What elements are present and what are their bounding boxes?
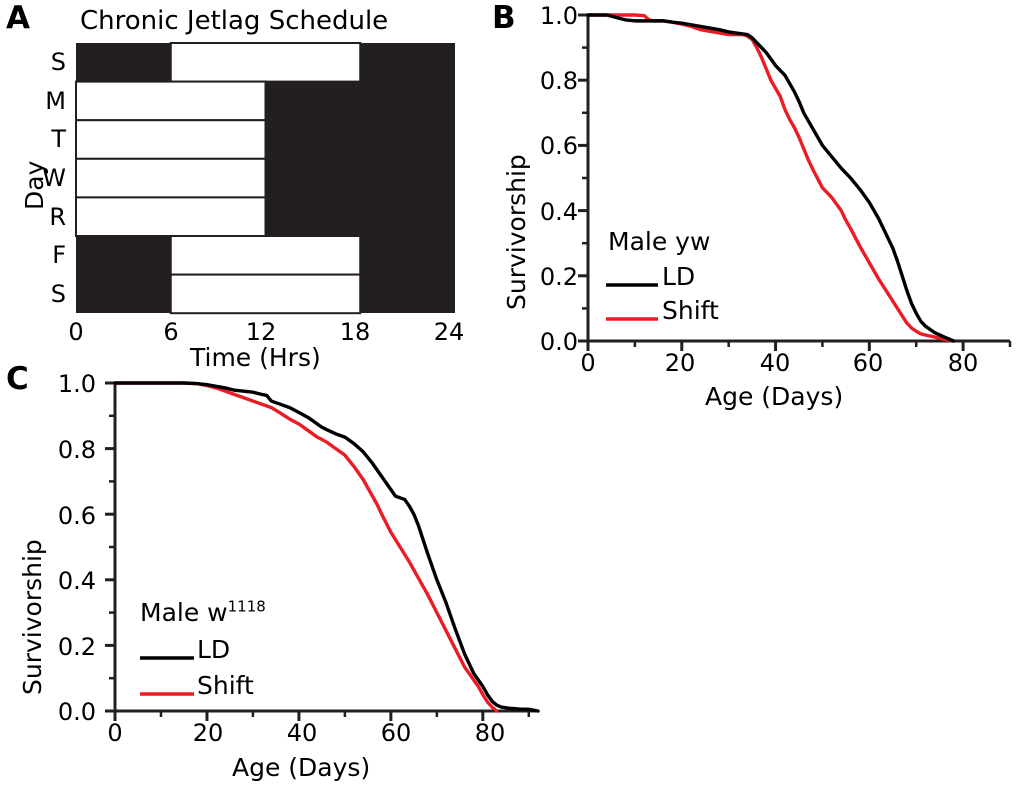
panel-a-xtick-4: 24: [433, 318, 465, 346]
panel-a-xtick-1: 6: [157, 318, 185, 346]
day-label-3: W: [36, 164, 66, 192]
light-bar-row-6: [171, 275, 361, 314]
panel-c-xtick-0: 0: [101, 719, 129, 747]
panel-c-xtick-4: 80: [474, 719, 506, 747]
day-label-2: T: [36, 125, 66, 153]
series-line-ld: [588, 15, 954, 341]
panel-c-plot: [0, 360, 560, 740]
panel-a-xtick-0: 0: [62, 318, 90, 346]
series-line-ld: [115, 383, 538, 711]
panel-a-letter: A: [6, 3, 30, 34]
series-line-shift: [588, 15, 954, 341]
panel-c-xtick-1: 20: [192, 719, 224, 747]
panel-b-xtick-2: 40: [759, 349, 791, 377]
panel-a-title: Chronic Jetlag Schedule: [80, 6, 388, 36]
day-label-4: R: [36, 203, 66, 231]
panel-c: C Survivorship 1.0 0.8 0.6 0.4 0.2 0.0 M…: [0, 360, 560, 799]
day-label-5: F: [36, 241, 66, 269]
panel-b-legend-label-shift: Shift: [662, 296, 719, 325]
panel-c-legend-label-ld: LD: [197, 635, 230, 664]
day-label-1: M: [36, 87, 66, 115]
axis-lines: [115, 383, 538, 711]
axis-lines: [588, 15, 1010, 341]
panel-c-xtick-2: 40: [286, 719, 318, 747]
panel-c-legend-title-prefix: Male w: [140, 598, 228, 627]
panel-a: A Chronic Jetlag Schedule Day S M T W R …: [0, 0, 480, 365]
panel-b-legend-title: Male yw: [608, 227, 710, 256]
panel-c-legend-title-superscript: 1118: [228, 598, 266, 616]
panel-c-xtick-3: 60: [380, 719, 412, 747]
panel-c-xlabel: Age (Days): [232, 753, 370, 782]
panel-c-legend-title: Male w1118: [140, 598, 266, 627]
panel-b-xtick-1: 20: [664, 349, 696, 377]
panel-b-xtick-0: 0: [574, 349, 602, 377]
panel-b-legend-label-ld: LD: [662, 262, 695, 291]
light-bar-row-3: [76, 159, 266, 198]
day-label-6: S: [36, 280, 66, 308]
panel-b-xtick-3: 60: [852, 349, 884, 377]
panel-b-xtick-4: 80: [947, 349, 979, 377]
panel-a-xtick-2: 12: [245, 318, 277, 346]
light-bar-row-2: [76, 120, 266, 159]
light-bar-row-5: [171, 236, 361, 275]
panel-b-plot: [490, 0, 1020, 370]
light-bar-row-1: [76, 82, 266, 121]
day-label-0: S: [36, 48, 66, 76]
panel-c-legend-label-shift: Shift: [197, 671, 254, 700]
legend-swatches: [140, 658, 194, 694]
legend-swatches: [606, 285, 658, 319]
light-bar-row-0: [171, 43, 361, 82]
panel-a-xtick-3: 18: [339, 318, 371, 346]
panel-b: B Survivorship 1.0 0.8 0.6 0.4 0.2 0.0 M…: [490, 0, 1020, 420]
series-line-shift: [115, 383, 497, 711]
panel-a-schedule-raster: [70, 38, 470, 328]
light-bar-row-4: [76, 197, 266, 236]
panel-b-xlabel: Age (Days): [705, 382, 843, 411]
